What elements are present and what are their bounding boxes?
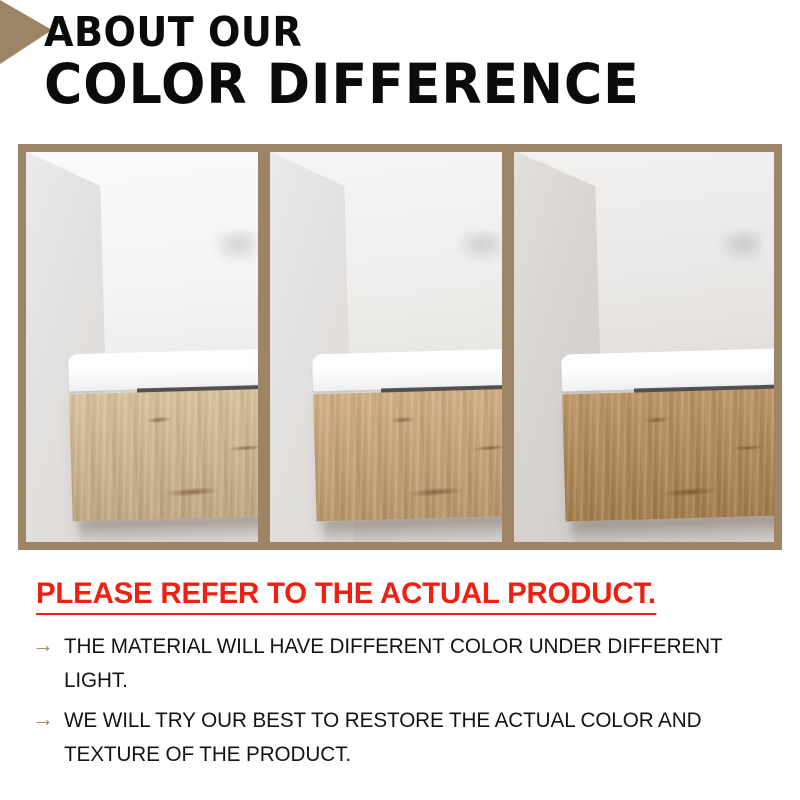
note-item: → WE WILL TRY OUR BEST TO RESTORE THE AC… bbox=[30, 704, 780, 772]
faucet-shadow-1 bbox=[211, 230, 258, 265]
arrow-right-icon: → bbox=[30, 704, 64, 734]
product-photo-panel-3 bbox=[514, 152, 774, 542]
wood-grain-3 bbox=[562, 387, 774, 522]
wood-grain-2 bbox=[313, 387, 502, 522]
photo-strip-inner bbox=[18, 144, 782, 550]
wood-cabinet-1 bbox=[69, 387, 258, 522]
note-item: → THE MATERIAL WILL HAVE DIFFERENT COLOR… bbox=[30, 630, 780, 698]
callout-headline: PLEASE REFER TO THE ACTUAL PRODUCT. bbox=[36, 578, 656, 615]
product-photo-panel-2 bbox=[270, 152, 502, 542]
photo-strip-frame bbox=[18, 144, 782, 550]
faucet-shadow-2 bbox=[455, 230, 502, 265]
bathroom-vanity-scene-3 bbox=[514, 152, 774, 542]
note-text: WE WILL TRY OUR BEST TO RESTORE THE ACTU… bbox=[64, 704, 769, 772]
page-title-line-2: COLOR DIFFERENCE bbox=[44, 57, 640, 112]
product-photo-panel-1 bbox=[26, 152, 258, 542]
notes-list: → THE MATERIAL WILL HAVE DIFFERENT COLOR… bbox=[30, 630, 780, 778]
wood-cabinet-3 bbox=[562, 387, 774, 522]
page-title-line-1: ABOUT OUR bbox=[44, 12, 302, 53]
arrow-right-icon: → bbox=[30, 630, 64, 660]
bathroom-vanity-scene-1 bbox=[26, 152, 258, 542]
page-header: ABOUT OUR COLOR DIFFERENCE bbox=[0, 0, 800, 136]
note-text: THE MATERIAL WILL HAVE DIFFERENT COLOR U… bbox=[64, 630, 769, 698]
wood-cabinet-2 bbox=[313, 387, 502, 522]
bathroom-vanity-scene-2 bbox=[270, 152, 502, 542]
wood-grain-1 bbox=[69, 387, 258, 522]
faucet-shadow-3 bbox=[716, 230, 763, 265]
